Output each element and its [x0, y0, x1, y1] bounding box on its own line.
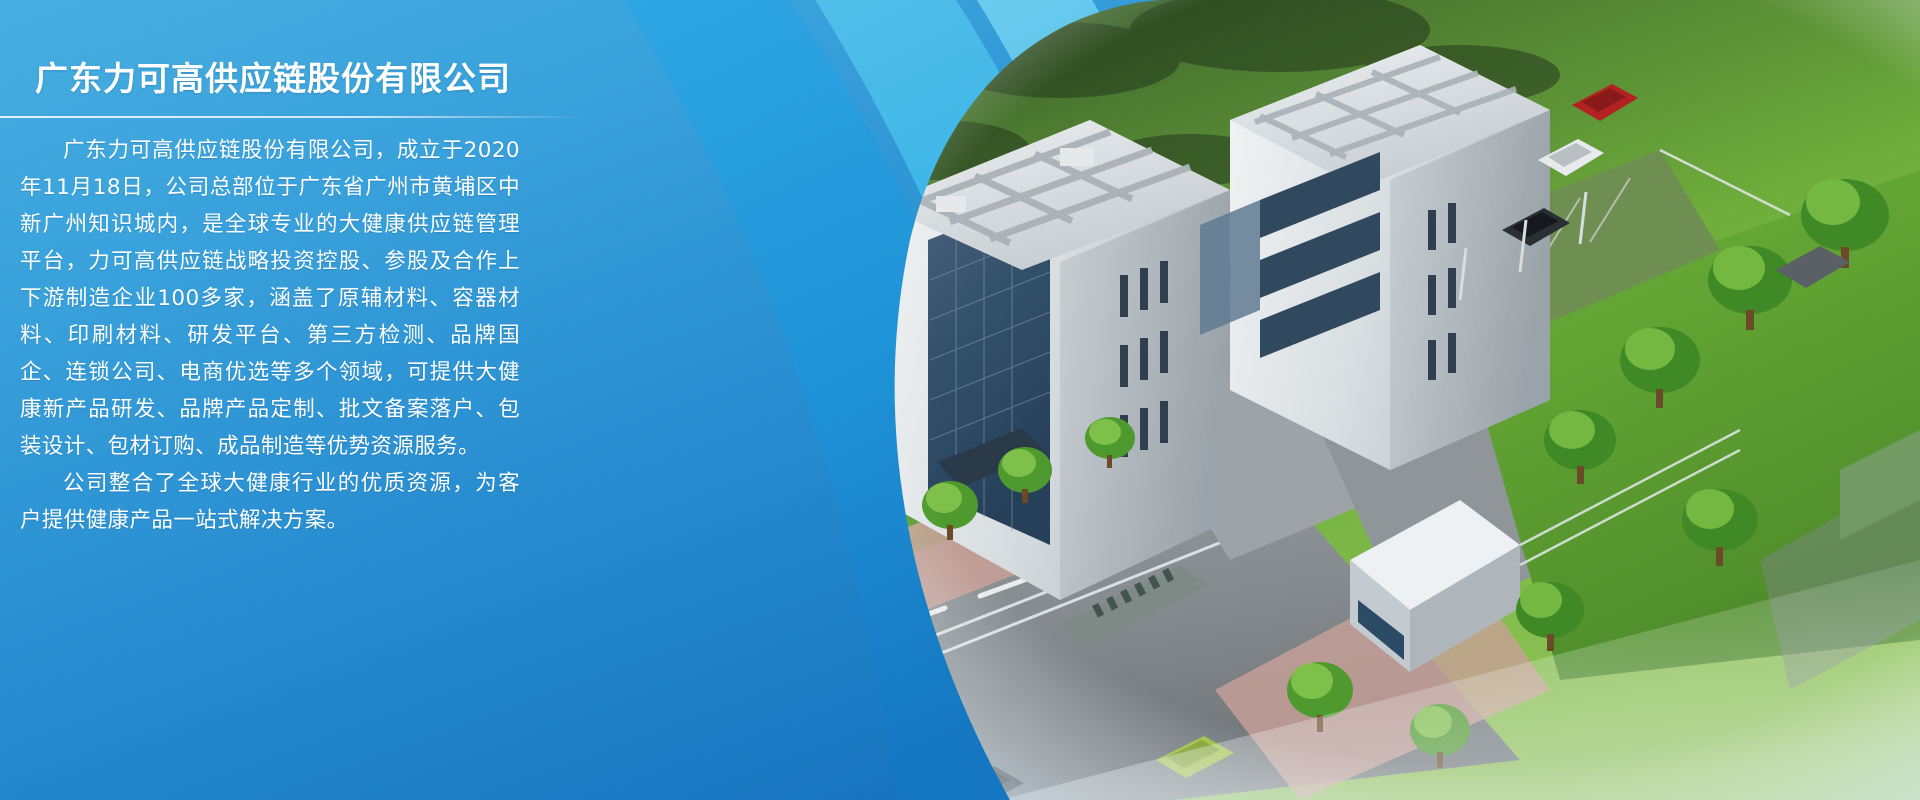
headquarters-rendering [760, 0, 1920, 800]
page-title: 广东力可高供应链股份有限公司 [35, 52, 511, 100]
title-divider [0, 116, 585, 118]
tree [840, 514, 900, 578]
text-column: 广东力可高供应链股份有限公司 广东力可高供应链股份有限公司，成立于2020年11… [0, 0, 620, 800]
photo-clip-group [760, 0, 1920, 800]
banner-stage: 广东力可高供应链股份有限公司 广东力可高供应链股份有限公司，成立于2020年11… [0, 0, 1920, 800]
vignette-fade [760, 0, 1920, 800]
paragraph-2: 公司整合了全球大健康行业的优质资源，为客户提供健康产品一站式解决方案。 [20, 465, 520, 539]
company-description: 广东力可高供应链股份有限公司，成立于2020年11月18日，公司总部位于广东省广… [20, 132, 520, 539]
paragraph-1: 广东力可高供应链股份有限公司，成立于2020年11月18日，公司总部位于广东省广… [20, 132, 520, 465]
